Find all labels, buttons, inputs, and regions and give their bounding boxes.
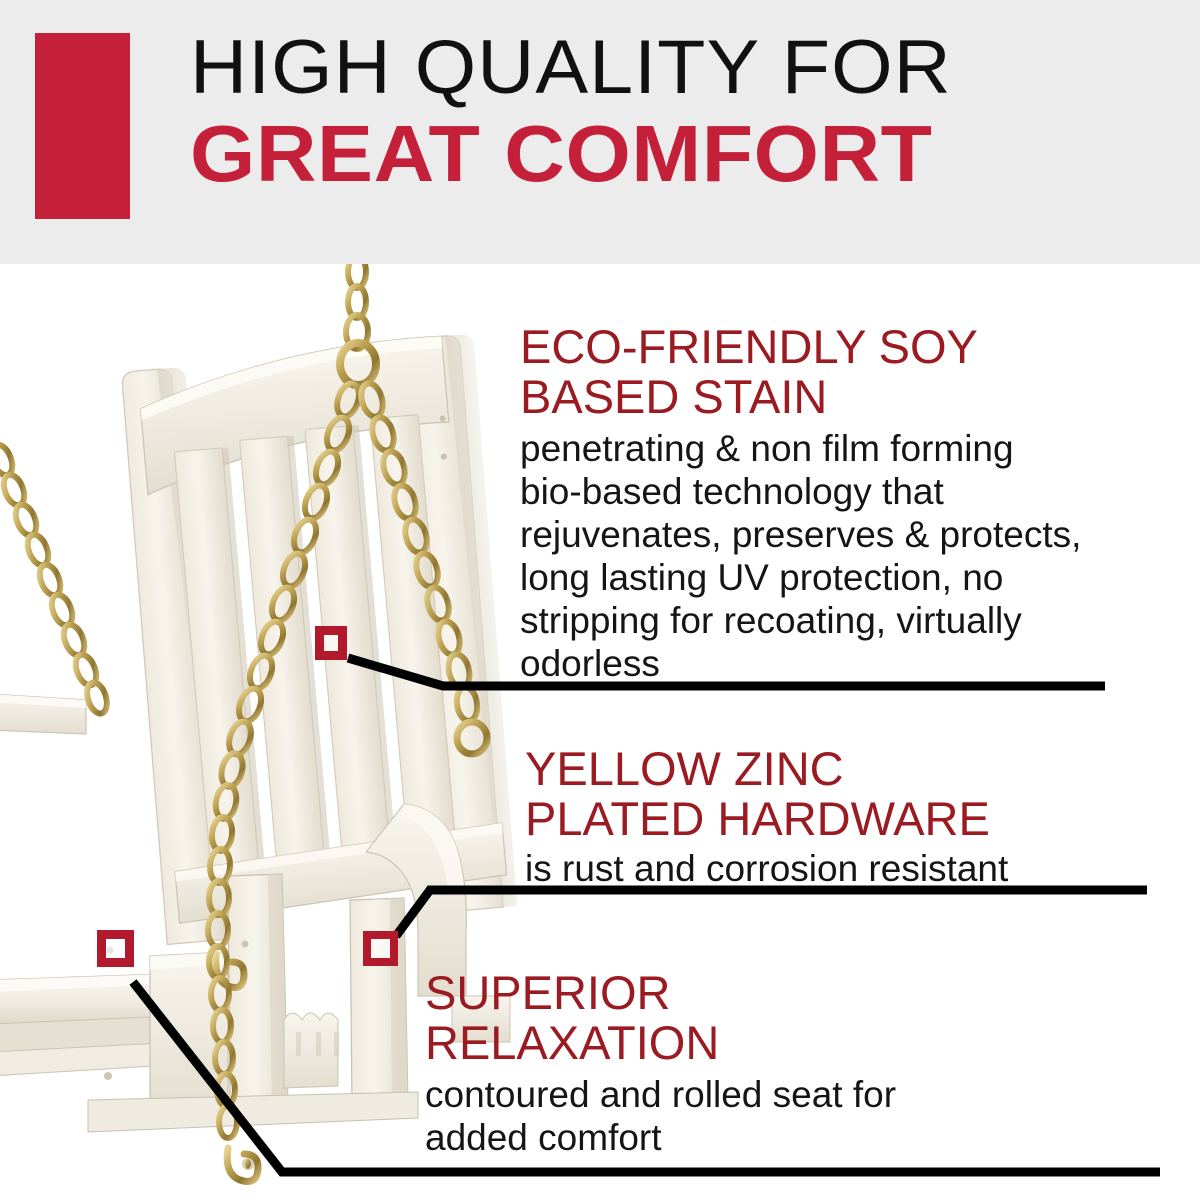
feature-body-line: added comfort <box>425 1116 1125 1159</box>
feature-body-line: stripping for recoating, virtually <box>520 599 1160 642</box>
feature-body-line: contoured and rolled seat for <box>425 1073 1125 1116</box>
feature-body-line: long lasting UV protection, no <box>520 556 1160 599</box>
feature-body-line: penetrating & non film forming <box>520 427 1160 470</box>
feature-body-line: bio-based technology that <box>520 470 1160 513</box>
feature-title-relaxation: SUPERIOR RELAXATION <box>425 968 1125 1068</box>
header-band: HIGH QUALITY FOR GREAT COMFORT <box>0 0 1200 264</box>
feature-body-line: is rust and corrosion resistant <box>525 847 1165 890</box>
swing-arm-left <box>0 694 86 734</box>
feature-block-yellow-zinc-plated-hardware: YELLOW ZINC PLATED HARDWARE is rust and … <box>525 744 1165 890</box>
feature-title-line: ECO-FRIENDLY SOY <box>520 322 1160 372</box>
feature-title-hardware: YELLOW ZINC PLATED HARDWARE <box>525 744 1165 844</box>
headline-secondary: GREAT COMFORT <box>190 112 1200 196</box>
feature-title-line: BASED STAIN <box>520 372 1160 422</box>
header-accent-bar <box>35 33 130 219</box>
feature-title-line: PLATED HARDWARE <box>525 794 1165 844</box>
feature-body-line: rejuvenates, preserves & protects, <box>520 513 1160 556</box>
feature-block-eco-friendly-soy-based-stain: ECO-FRIENDLY SOY BASED STAIN penetrating… <box>520 322 1160 685</box>
infographic-page: HIGH QUALITY FOR GREAT COMFORT <box>0 0 1200 1200</box>
feature-body-relaxation: contoured and rolled seat for added comf… <box>425 1073 1125 1159</box>
feature-title-stain: ECO-FRIENDLY SOY BASED STAIN <box>520 322 1160 422</box>
feature-block-superior-relaxation: SUPERIOR RELAXATION contoured and rolled… <box>425 968 1125 1159</box>
feature-title-line: RELAXATION <box>425 1018 1125 1068</box>
feature-body-hardware: is rust and corrosion resistant <box>525 847 1165 890</box>
swing-backrest <box>117 333 524 945</box>
feature-body-line: odorless <box>520 642 1160 685</box>
feature-title-line: SUPERIOR <box>425 968 1125 1018</box>
headline-primary: HIGH QUALITY FOR <box>190 28 1200 108</box>
header-text-wrap: HIGH QUALITY FOR GREAT COMFORT <box>190 28 1180 228</box>
feature-title-line: YELLOW ZINC <box>525 744 1165 794</box>
feature-body-stain: penetrating & non film forming bio-based… <box>520 427 1160 685</box>
